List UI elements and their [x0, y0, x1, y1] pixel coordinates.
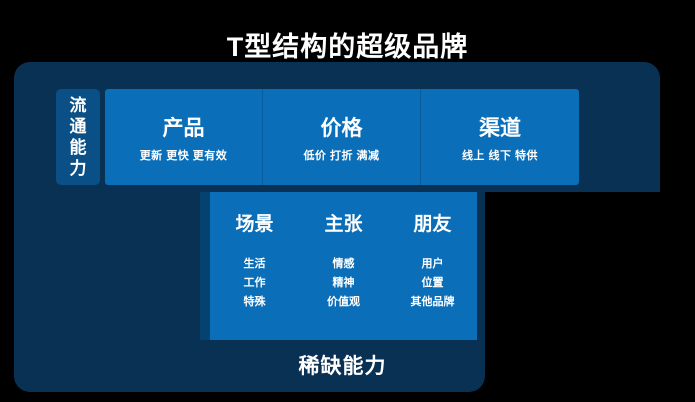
- scarcity-item: 其他品牌: [411, 293, 455, 312]
- capability-title: 渠道: [479, 116, 521, 142]
- scarcity-item: 情感: [333, 255, 355, 274]
- page-title: T型结构的超级品牌: [0, 30, 695, 64]
- scarcity-column-scene[interactable]: 场景 生活 工作 特殊: [210, 192, 299, 340]
- capability-cell-channel[interactable]: 渠道 线上 线下 特供: [421, 89, 579, 185]
- scarcity-item: 位置: [422, 274, 444, 293]
- scarcity-column-claim[interactable]: 主张 情感 精神 价值观: [299, 192, 388, 340]
- circulation-capability-row: 流 通 能 力 产品 更新 更快 更有效 价格 低价 打折 满减 渠道 线上 线…: [56, 89, 579, 185]
- scarcity-item: 特殊: [244, 293, 266, 312]
- scarcity-column-title: 场景: [235, 213, 273, 237]
- scarcity-item: 生活: [244, 255, 266, 274]
- capability-subtitle: 低价 打折 满减: [303, 149, 379, 163]
- vertical-label-char-0: 流: [70, 95, 87, 116]
- scarcity-item: 价值观: [327, 293, 360, 312]
- scarcity-column-friends[interactable]: 朋友 用户 位置 其他品牌: [388, 192, 477, 340]
- capability-subtitle: 更新 更快 更有效: [140, 149, 228, 163]
- capability-title: 产品: [163, 116, 205, 142]
- capability-strip: 产品 更新 更快 更有效 价格 低价 打折 满减 渠道 线上 线下 特供: [105, 89, 579, 185]
- circulation-vertical-label: 流 通 能 力: [56, 89, 100, 185]
- scarcity-capability-block: 场景 生活 工作 特殊 主张 情感 精神 价值观 朋友 用户 位置 其他品牌: [210, 192, 477, 340]
- capability-subtitle: 线上 线下 特供: [462, 149, 538, 163]
- vertical-label-char-3: 力: [70, 158, 87, 179]
- scarcity-item: 工作: [244, 274, 266, 293]
- scarcity-item: 精神: [333, 274, 355, 293]
- scarcity-footer-label: 稀缺能力: [200, 340, 485, 390]
- vertical-label-char-2: 能: [70, 137, 87, 158]
- vertical-label-char-1: 通: [70, 116, 87, 137]
- stem-left-shadow: [200, 192, 210, 340]
- scarcity-item: 用户: [422, 255, 444, 274]
- scarcity-column-title: 主张: [324, 213, 362, 237]
- scarcity-columns: 场景 生活 工作 特殊 主张 情感 精神 价值观 朋友 用户 位置 其他品牌: [210, 192, 477, 340]
- capability-cell-price[interactable]: 价格 低价 打折 满减: [263, 89, 421, 185]
- scarcity-column-title: 朋友: [413, 213, 451, 237]
- capability-cell-product[interactable]: 产品 更新 更快 更有效: [105, 89, 263, 185]
- capability-title: 价格: [321, 116, 363, 142]
